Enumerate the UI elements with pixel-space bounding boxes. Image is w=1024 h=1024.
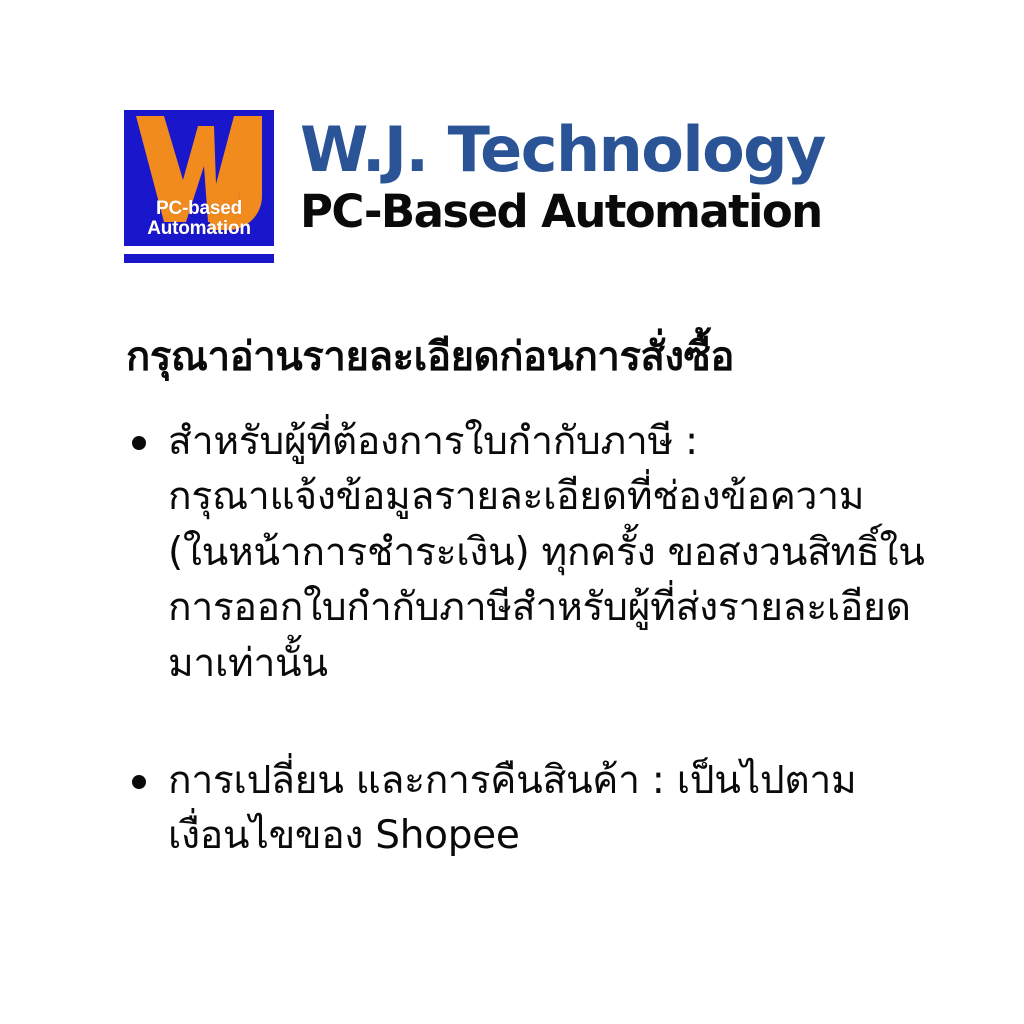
bullet-line: สำหรับผู้ที่ต้องการใบกำกับภาษี :: [168, 414, 954, 469]
logo-subtitle-line1: PC-based: [124, 199, 274, 220]
logo-subtitle-line2: Automation: [124, 219, 274, 240]
bullet-line: การเปลี่ยน และการคืนสินค้า : เป็นไปตาม: [168, 753, 954, 808]
notice-page: PC-based Automation W.J. Technology PC-B…: [0, 0, 1024, 1024]
company-tagline: PC-Based Automation: [300, 189, 825, 235]
bullet-line: มาเท่านั้น: [168, 636, 954, 691]
company-logo: PC-based Automation: [124, 110, 274, 263]
bullet-line: กรุณาแจ้งข้อมูลรายละเอียดที่ช่องข้อความ: [168, 469, 954, 524]
bullet-dot-icon: [132, 436, 146, 450]
brand-text-block: W.J. Technology PC-Based Automation: [300, 110, 825, 235]
bullet-item-exchange-return: การเปลี่ยน และการคืนสินค้า : เป็นไปตาม เ…: [124, 753, 954, 864]
bullet-line: การออกใบกำกับภาษีสำหรับผู้ที่ส่งรายละเอี…: [168, 580, 954, 635]
bullet-item-tax-invoice: สำหรับผู้ที่ต้องการใบกำกับภาษี : กรุณาแจ…: [124, 414, 954, 691]
brand-header: PC-based Automation W.J. Technology PC-B…: [124, 110, 825, 263]
logo-underbar: [124, 254, 274, 263]
notice-heading: กรุณาอ่านรายละเอียดก่อนการสั่งซื้อ: [126, 332, 954, 382]
bullet-dot-icon: [132, 775, 146, 789]
notice-block: กรุณาอ่านรายละเอียดก่อนการสั่งซื้อ สำหรั…: [124, 332, 954, 864]
bullet-line: (ในหน้าการชำระเงิน) ทุกครั้ง ขอสงวนสิทธิ…: [168, 525, 954, 580]
logo-square: PC-based Automation: [124, 110, 274, 246]
logo-subtitle: PC-based Automation: [124, 199, 274, 240]
company-name: W.J. Technology: [300, 118, 825, 181]
bullet-line: เงื่อนไขของ Shopee: [168, 808, 954, 863]
notice-bullet-list: สำหรับผู้ที่ต้องการใบกำกับภาษี : กรุณาแจ…: [124, 414, 954, 864]
